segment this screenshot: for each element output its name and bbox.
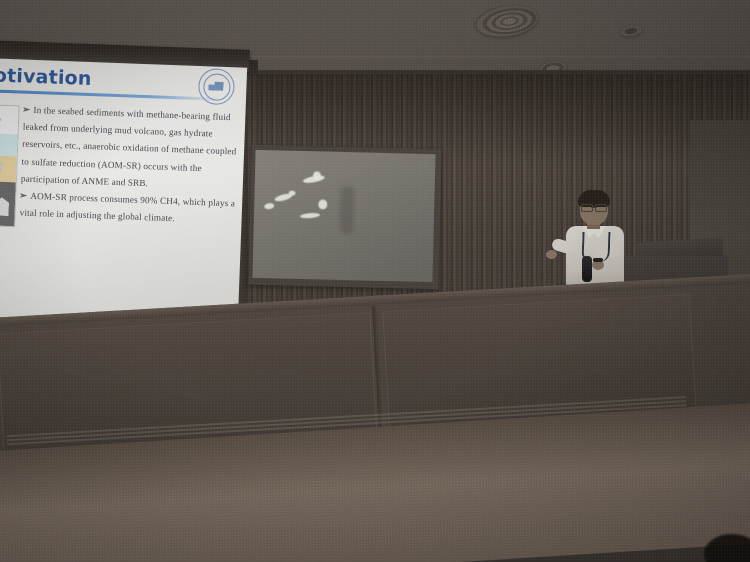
glare-highlight: [318, 199, 327, 209]
presentation-slide: Motivation ates atmosphere water column …: [0, 58, 247, 330]
sediment-diagram: atmosphere water column surface sediment…: [0, 103, 20, 227]
title-underline: [0, 89, 220, 101]
slide-body: ➤In the seabed sediments with methane-be…: [19, 102, 239, 230]
bullet-marker-icon: ➤: [21, 102, 31, 120]
glasses-lens-left: [581, 204, 593, 212]
glare-highlight: [288, 191, 295, 196]
glasses-icon: [581, 204, 607, 210]
layer-label-atmosphere: atmosphere: [0, 115, 3, 122]
slide-title: Motivation: [0, 64, 92, 90]
slide-bullet-1-text: In the seabed sediments with methane-bea…: [21, 105, 237, 188]
wristwatch-icon: [593, 258, 603, 262]
glasses-lens-right: [595, 204, 607, 212]
secondary-display: [252, 150, 435, 282]
slide-bullet-2: ➤AOM-SR process consumes 90% CH4, which …: [19, 188, 236, 230]
lecture-hall-photo: Motivation ates atmosphere water column …: [0, 0, 750, 562]
presenter-left-hand: [546, 250, 557, 259]
bullet-marker-icon: ➤: [18, 187, 28, 205]
slide-bullet-2-text: AOM-SR process consumes 90% CH4, which p…: [20, 191, 236, 224]
display-shadow: [340, 186, 355, 234]
projection-screen: Motivation ates atmosphere water column …: [0, 40, 250, 340]
slide-bullet-1: ➤In the seabed sediments with methane-be…: [21, 102, 240, 196]
layer-water-column: [0, 132, 18, 156]
glare-highlight: [300, 212, 320, 219]
layer-surface-sediment: [0, 154, 17, 182]
microphone-icon: [582, 256, 592, 282]
glare-highlight: [264, 202, 275, 209]
university-seal-icon: [198, 68, 235, 105]
